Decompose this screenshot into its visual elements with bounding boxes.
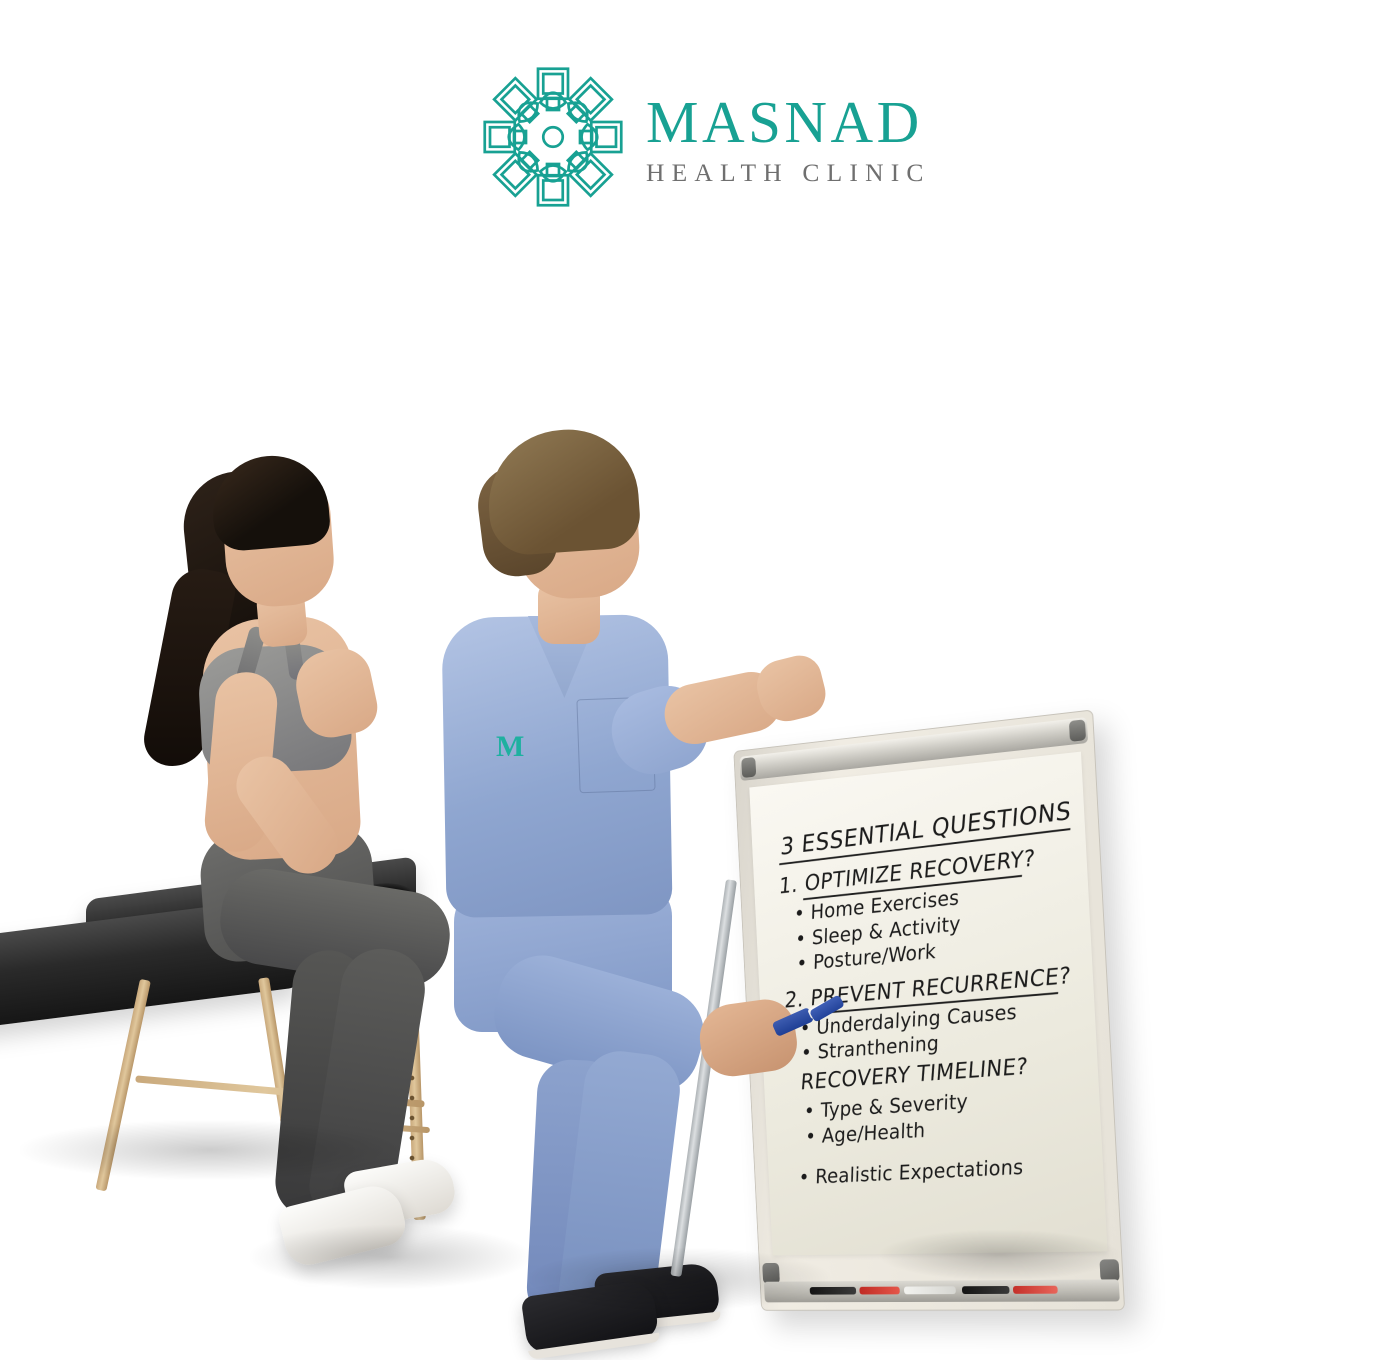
marker-black-icon[interactable]	[962, 1286, 1010, 1294]
rail-cap	[741, 757, 756, 778]
whiteboard-sheet: 3 ESSENTIAL QUESTIONS 1. OPTIMIZE RECOVE…	[749, 752, 1107, 1256]
clinic-scene: M 3 ESSENTIAL QUESTIONS 1.	[0, 330, 1375, 1339]
board-corner-bracket	[762, 1263, 780, 1284]
brand-name: MASNAD	[646, 92, 931, 152]
section-suffix-1: ?	[1023, 846, 1037, 873]
flipchart-easel: 3 ESSENTIAL QUESTIONS 1. OPTIMIZE RECOVE…	[640, 350, 1200, 1350]
mandala-icon	[478, 62, 628, 212]
whiteboard-closing-bullet: Realistic Expectations	[799, 1153, 1083, 1190]
rail-cap	[1069, 719, 1086, 742]
section-number-1: 1.	[778, 873, 799, 900]
brand-subtitle: HEALTH CLINIC	[646, 158, 931, 188]
board-corner-bracket	[1099, 1259, 1119, 1281]
marker-black-icon[interactable]	[810, 1287, 857, 1295]
therapist-hair	[484, 425, 642, 557]
brand-logo-block: MASNAD HEALTH CLINIC	[478, 62, 908, 212]
section-suffix-3: ?	[1015, 1054, 1029, 1081]
scrub-logo-icon: M	[496, 736, 526, 762]
marker-red-icon[interactable]	[859, 1287, 900, 1295]
brand-wordmark: MASNAD HEALTH CLINIC	[646, 86, 931, 188]
marker-tray	[764, 1279, 1120, 1302]
whiteboard-content: 3 ESSENTIAL QUESTIONS 1. OPTIMIZE RECOVE…	[777, 801, 1083, 1186]
marker-white-icon[interactable]	[904, 1286, 956, 1294]
patient-hair-top	[208, 451, 332, 553]
section-suffix-2: ?	[1058, 963, 1072, 990]
easel-leg	[670, 879, 737, 1277]
whiteboard-bullets-3: Type & Severity Age/Health	[803, 1086, 1080, 1147]
whiteboard[interactable]: 3 ESSENTIAL QUESTIONS 1. OPTIMIZE RECOVE…	[733, 709, 1125, 1310]
marker-red-icon[interactable]	[1013, 1286, 1058, 1294]
